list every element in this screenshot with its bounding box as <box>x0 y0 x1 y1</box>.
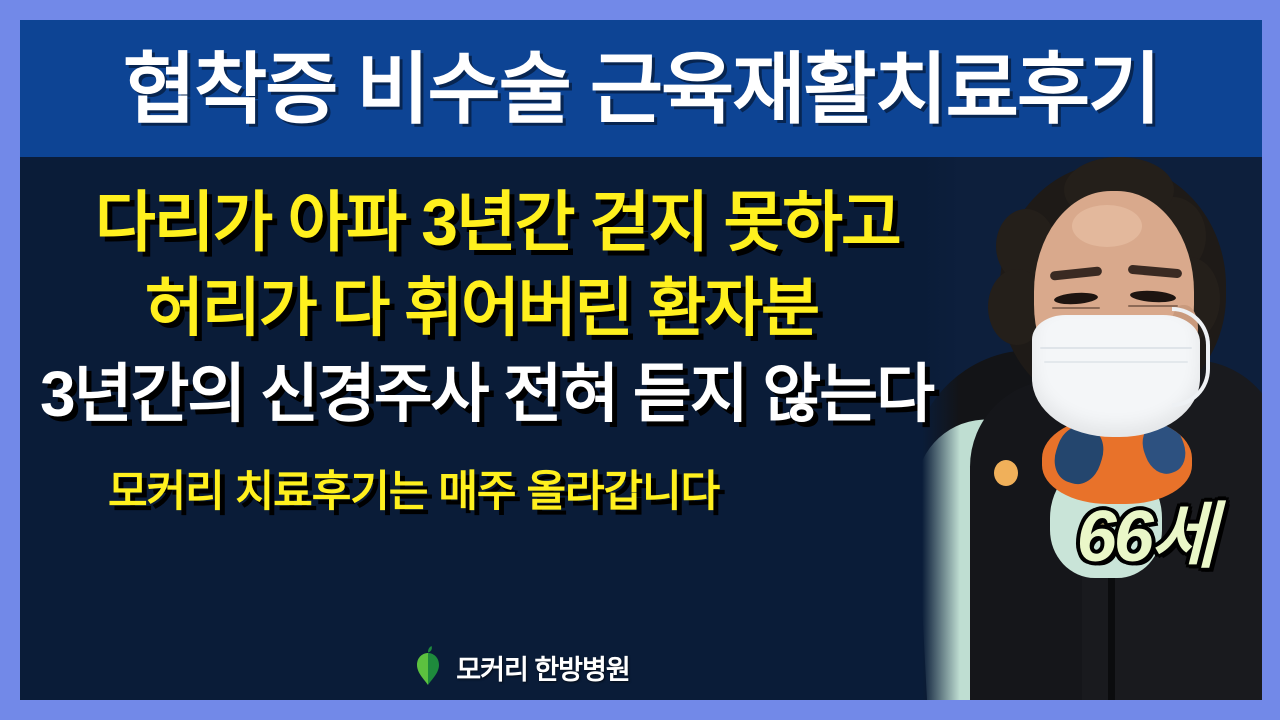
leaf-heart-icon <box>412 646 444 688</box>
headline-line-1: 다리가 아파 3년간 걷지 못하고 <box>20 189 1262 256</box>
headline-line-3: 3년간의 신경주사 전혀 듣지 않는다 <box>20 362 1262 427</box>
headline-block: 다리가 아파 3년간 걷지 못하고 허리가 다 휘어버린 환자분 3년간의 신경… <box>20 157 1262 515</box>
header-banner: 협착증 비수술 근육재활치료후기 <box>20 20 1262 157</box>
hospital-logo: 모커리 한방병원 <box>20 646 1262 688</box>
headline-line-2: 허리가 다 휘어버린 환자분 <box>20 276 1262 341</box>
age-badge: 66세 <box>1077 477 1214 582</box>
content-panel: 협착증 비수술 근육재활치료후기 <box>20 20 1262 700</box>
header-title: 협착증 비수술 근육재활치료후기 <box>123 50 1159 128</box>
hospital-name: 모커리 한방병원 <box>456 648 629 687</box>
video-thumbnail: 협착증 비수술 근육재활치료후기 <box>0 0 1280 720</box>
